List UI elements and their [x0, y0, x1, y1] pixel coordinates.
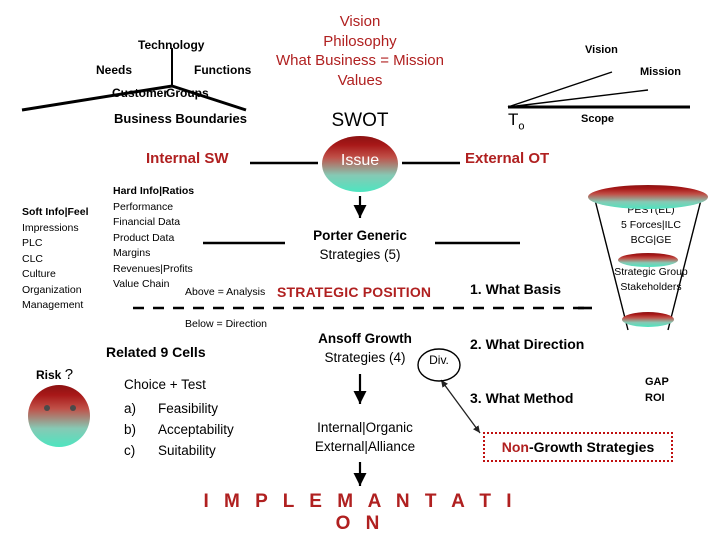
list-item: b)Acceptability	[124, 419, 234, 440]
list-item: a)Feasibility	[124, 398, 234, 419]
label-external-ot: External OT	[465, 150, 549, 167]
fan-label-scope: Scope	[581, 113, 614, 125]
item-label: Suitability	[158, 443, 216, 458]
risk-text: Risk	[36, 368, 61, 382]
hard-info-item: Value Chain	[113, 277, 194, 293]
funnel-analysis-tools: PEST(EL) 5 Forces|ILC BCG|GE	[596, 203, 706, 248]
label-swot: SWOT	[250, 110, 470, 132]
label-above-analysis: Above = Analysis	[185, 286, 265, 298]
label-functions: Functions	[194, 63, 251, 77]
hard-info-item: Financial Data	[113, 215, 194, 231]
funnel-item-bcg-ge: BCG|GE	[596, 233, 706, 248]
soft-info-item: Management	[22, 298, 89, 314]
hard-info-item: Revenues|Profits	[113, 262, 194, 278]
label-related-9-cells: Related 9 Cells	[106, 344, 206, 360]
header-block: Vision Philosophy What Business = Missio…	[250, 12, 470, 90]
choice-test-list: a)Feasibility b)Acceptability c)Suitabil…	[124, 398, 234, 461]
non-growth-strategies-box: Non-Growth Strategies	[483, 432, 673, 462]
soft-info-item: Culture	[22, 267, 89, 283]
ansoff-block: Ansoff Growth Strategies (4)	[290, 329, 440, 367]
soft-info-item: Organization	[22, 283, 89, 299]
label-business-boundaries: Business Boundaries	[114, 111, 247, 126]
hard-info-item: Product Data	[113, 231, 194, 247]
item-label: Feasibility	[158, 401, 218, 416]
strategy-diagram-canvas: Technology Needs Functions Customer Grou…	[0, 0, 720, 540]
label-issue: Issue	[329, 152, 391, 170]
fan-label-origin: To	[508, 110, 525, 132]
label-technology: Technology	[138, 38, 204, 52]
ansoff-subtitle: Strategies (4)	[290, 348, 440, 367]
non-growth-prefix: Non	[502, 439, 529, 455]
label-customer: Customer	[112, 86, 168, 100]
label-risk: Risk ?	[36, 366, 73, 383]
question-what-method: 3. What Method	[470, 390, 573, 406]
soft-info-item: PLC	[22, 236, 89, 252]
soft-info-item: CLC	[22, 252, 89, 268]
funnel-top-ellipse	[588, 185, 708, 209]
funnel-middle-ellipse	[618, 253, 678, 267]
fan-label-vision: Vision	[585, 44, 618, 56]
header-values: Values	[250, 71, 470, 91]
header-vision: Vision	[250, 12, 470, 32]
funnel-item-strategic-group: Strategic Group	[596, 265, 706, 280]
hard-info-title: Hard Info|Ratios	[113, 184, 194, 200]
question-what-direction: 2. What Direction	[470, 336, 584, 352]
porter-subtitle: Strategies (5)	[275, 245, 445, 264]
list-item: c)Suitability	[124, 440, 234, 461]
origin-t: T	[508, 110, 518, 129]
funnel-stakeholder-tools: Strategic Group Stakeholders	[596, 265, 706, 295]
smiley-face-icon	[28, 385, 90, 447]
funnel-bottom-ellipse	[622, 312, 674, 327]
item-marker: c)	[124, 440, 158, 461]
soft-info-title: Soft Info|Feel	[22, 205, 89, 221]
label-internal-sw: Internal SW	[146, 150, 229, 167]
hard-info-item: Margins	[113, 246, 194, 262]
label-choice-test: Choice + Test	[124, 377, 206, 392]
porter-title: Porter Generic	[275, 226, 445, 245]
funnel-item-stakeholders: Stakeholders	[596, 280, 706, 295]
growth-mode-internal: Internal|Organic	[285, 418, 445, 437]
smiley-right-eye-icon	[70, 405, 76, 411]
label-implementation: I M P L E M A N T A T I O N	[200, 491, 520, 535]
item-marker: b)	[124, 419, 158, 440]
hard-info-item: Performance	[113, 200, 194, 216]
fan-label-mission: Mission	[640, 66, 681, 78]
business-boundaries-bracket	[22, 48, 246, 110]
risk-question-mark: ?	[65, 366, 73, 383]
arrow-div-nongrowth	[441, 380, 480, 433]
header-philosophy: Philosophy	[250, 32, 470, 52]
smiley-left-eye-icon	[44, 405, 50, 411]
label-diversification: Div.	[421, 353, 457, 367]
label-strategic-position: STRATEGIC POSITION	[277, 284, 431, 300]
question-what-basis: 1. What Basis	[470, 281, 561, 297]
non-growth-suffix: -Growth Strategies	[529, 439, 654, 455]
funnel-item-five-forces: 5 Forces|ILC	[596, 218, 706, 233]
porter-block: Porter Generic Strategies (5)	[275, 226, 445, 264]
soft-info-item: Impressions	[22, 221, 89, 237]
soft-info-block: Soft Info|Feel Impressions PLC CLC Cultu…	[22, 205, 89, 314]
label-below-direction: Below = Direction	[185, 318, 267, 330]
item-label: Acceptability	[158, 422, 234, 437]
metrics-block: GAP ROI	[645, 374, 669, 406]
item-marker: a)	[124, 398, 158, 419]
growth-mode-external: External|Alliance	[285, 437, 445, 456]
label-needs: Needs	[96, 63, 132, 77]
ansoff-title: Ansoff Growth	[290, 329, 440, 348]
metric-gap: GAP	[645, 374, 669, 390]
origin-subscript: o	[518, 120, 524, 132]
metric-roi: ROI	[645, 390, 669, 406]
growth-modes-block: Internal|Organic External|Alliance	[285, 418, 445, 456]
label-groups: Groups	[166, 86, 209, 100]
hard-info-block: Hard Info|Ratios Performance Financial D…	[113, 184, 194, 293]
header-what-business: What Business = Mission	[250, 51, 470, 71]
